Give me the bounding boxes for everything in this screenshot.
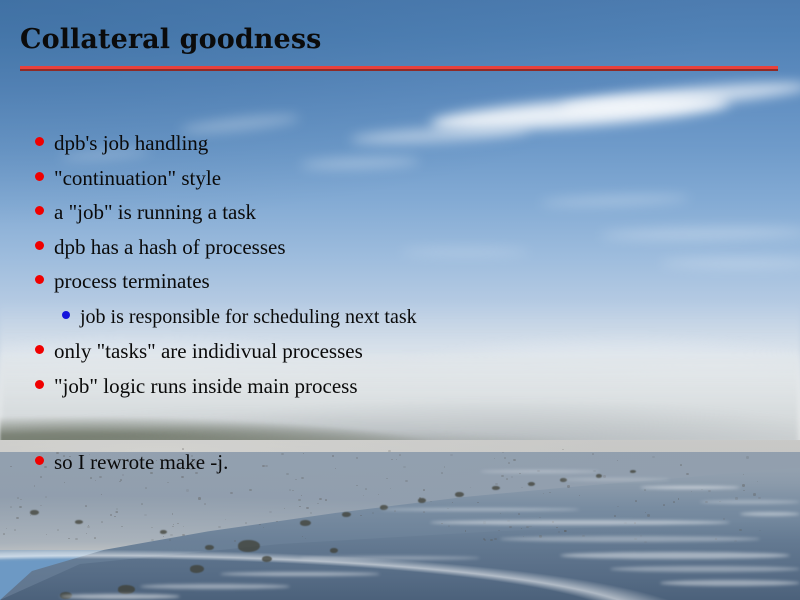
presentation-slide: Collateral goodness dpb's job handling"c… [0, 0, 800, 600]
list-item: dpb's job handling [35, 133, 208, 154]
bullet-dot-blue-icon [62, 311, 70, 319]
list-item-label: "job" logic runs inside main process [54, 376, 358, 397]
list-item: "continuation" style [35, 168, 221, 189]
list-item-label: process terminates [54, 271, 210, 292]
list-item: a "job" is running a task [35, 202, 256, 223]
bullet-dot-red-icon [35, 456, 44, 465]
list-item-label: so I rewrote make -j. [54, 452, 228, 473]
bullet-dot-red-icon [35, 345, 44, 354]
slide-content: Collateral goodness dpb's job handling"c… [0, 0, 800, 600]
page-title: Collateral goodness [20, 24, 321, 55]
list-item: job is responsible for scheduling next t… [62, 307, 417, 327]
bullet-dot-red-icon [35, 137, 44, 146]
list-item: so I rewrote make -j. [35, 452, 228, 473]
list-item-label: "continuation" style [54, 168, 221, 189]
list-item: dpb has a hash of processes [35, 237, 286, 258]
bullet-dot-red-icon [35, 206, 44, 215]
title-divider [20, 66, 778, 71]
list-item-label: a "job" is running a task [54, 202, 256, 223]
list-item-label: job is responsible for scheduling next t… [80, 307, 417, 327]
list-item-label: dpb's job handling [54, 133, 208, 154]
bullet-dot-red-icon [35, 241, 44, 250]
bullet-dot-red-icon [35, 275, 44, 284]
list-item-label: only "tasks" are indidivual processes [54, 341, 363, 362]
list-item: "job" logic runs inside main process [35, 376, 358, 397]
list-item: only "tasks" are indidivual processes [35, 341, 363, 362]
bullet-dot-red-icon [35, 172, 44, 181]
list-item: process terminates [35, 271, 210, 292]
bullet-dot-red-icon [35, 380, 44, 389]
list-item-label: dpb has a hash of processes [54, 237, 286, 258]
